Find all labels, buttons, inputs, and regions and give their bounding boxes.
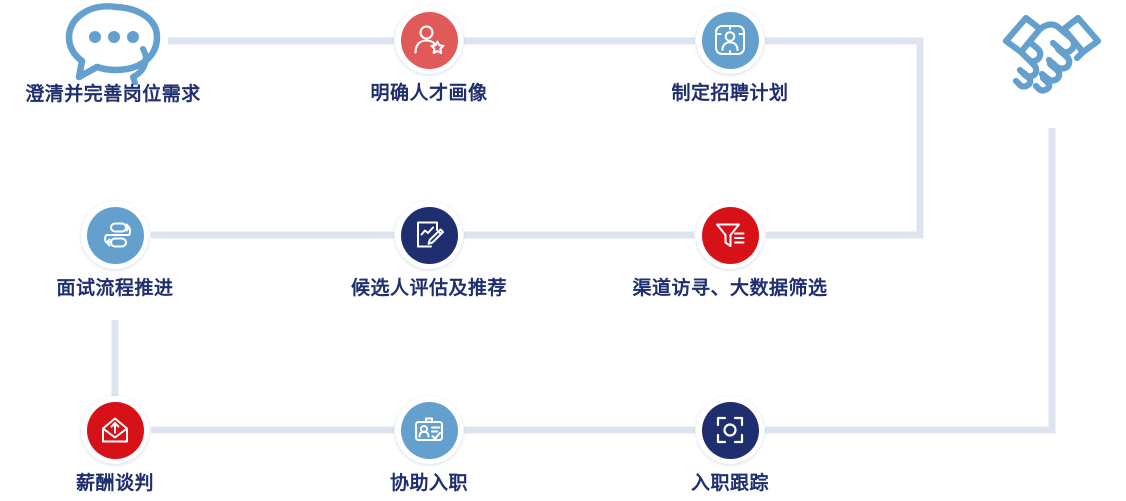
node-label-clarify-role-requirements: 澄清并完善岗位需求 — [0, 81, 263, 109]
person-star-icon — [412, 23, 446, 57]
open-envelope-up-arrow-icon — [98, 413, 132, 447]
connector-layer — [0, 0, 1126, 501]
connector-plan-to-screening — [765, 41, 920, 235]
node-disc-candidate-assessment-recommendation — [395, 201, 463, 269]
person-frame-icon — [713, 23, 747, 57]
node-disc-salary-negotiation — [81, 396, 149, 464]
node-disc-onboarding-assistance — [395, 396, 463, 464]
handshake-icon — [995, 1, 1109, 107]
chat-bubble-icon — [61, 0, 165, 85]
process-flow-icon — [98, 218, 132, 252]
filter-funnel-icon — [713, 218, 747, 252]
node-disc-advance-interview-process — [81, 201, 149, 269]
node-disc-define-talent-profile — [395, 6, 463, 74]
node-disc-channel-search-bigdata-screening — [696, 201, 764, 269]
node-disc-onboarding-follow-up — [696, 396, 764, 464]
recruitment-process-diagram: 澄清并完善岗位需求 明确人才画像 — [0, 0, 1126, 501]
node-label-candidate-assessment-recommendation: 候选人评估及推荐 — [279, 275, 579, 303]
node-label-create-hiring-plan: 制定招聘计划 — [580, 80, 880, 108]
node-label-onboarding-assistance: 协助入职 — [279, 470, 579, 498]
document-pencil-icon — [412, 218, 446, 252]
node-label-define-talent-profile: 明确人才画像 — [279, 80, 579, 108]
focus-frame-icon — [713, 413, 747, 447]
node-disc-create-hiring-plan — [696, 6, 764, 74]
node-label-advance-interview-process: 面试流程推进 — [0, 275, 265, 303]
node-label-channel-search-bigdata-screening: 渠道访寻、大数据筛选 — [580, 275, 880, 303]
id-badge-check-icon — [412, 413, 446, 447]
node-label-onboarding-follow-up: 入职跟踪 — [580, 470, 880, 498]
node-label-salary-negotiation: 薪酬谈判 — [0, 470, 265, 498]
